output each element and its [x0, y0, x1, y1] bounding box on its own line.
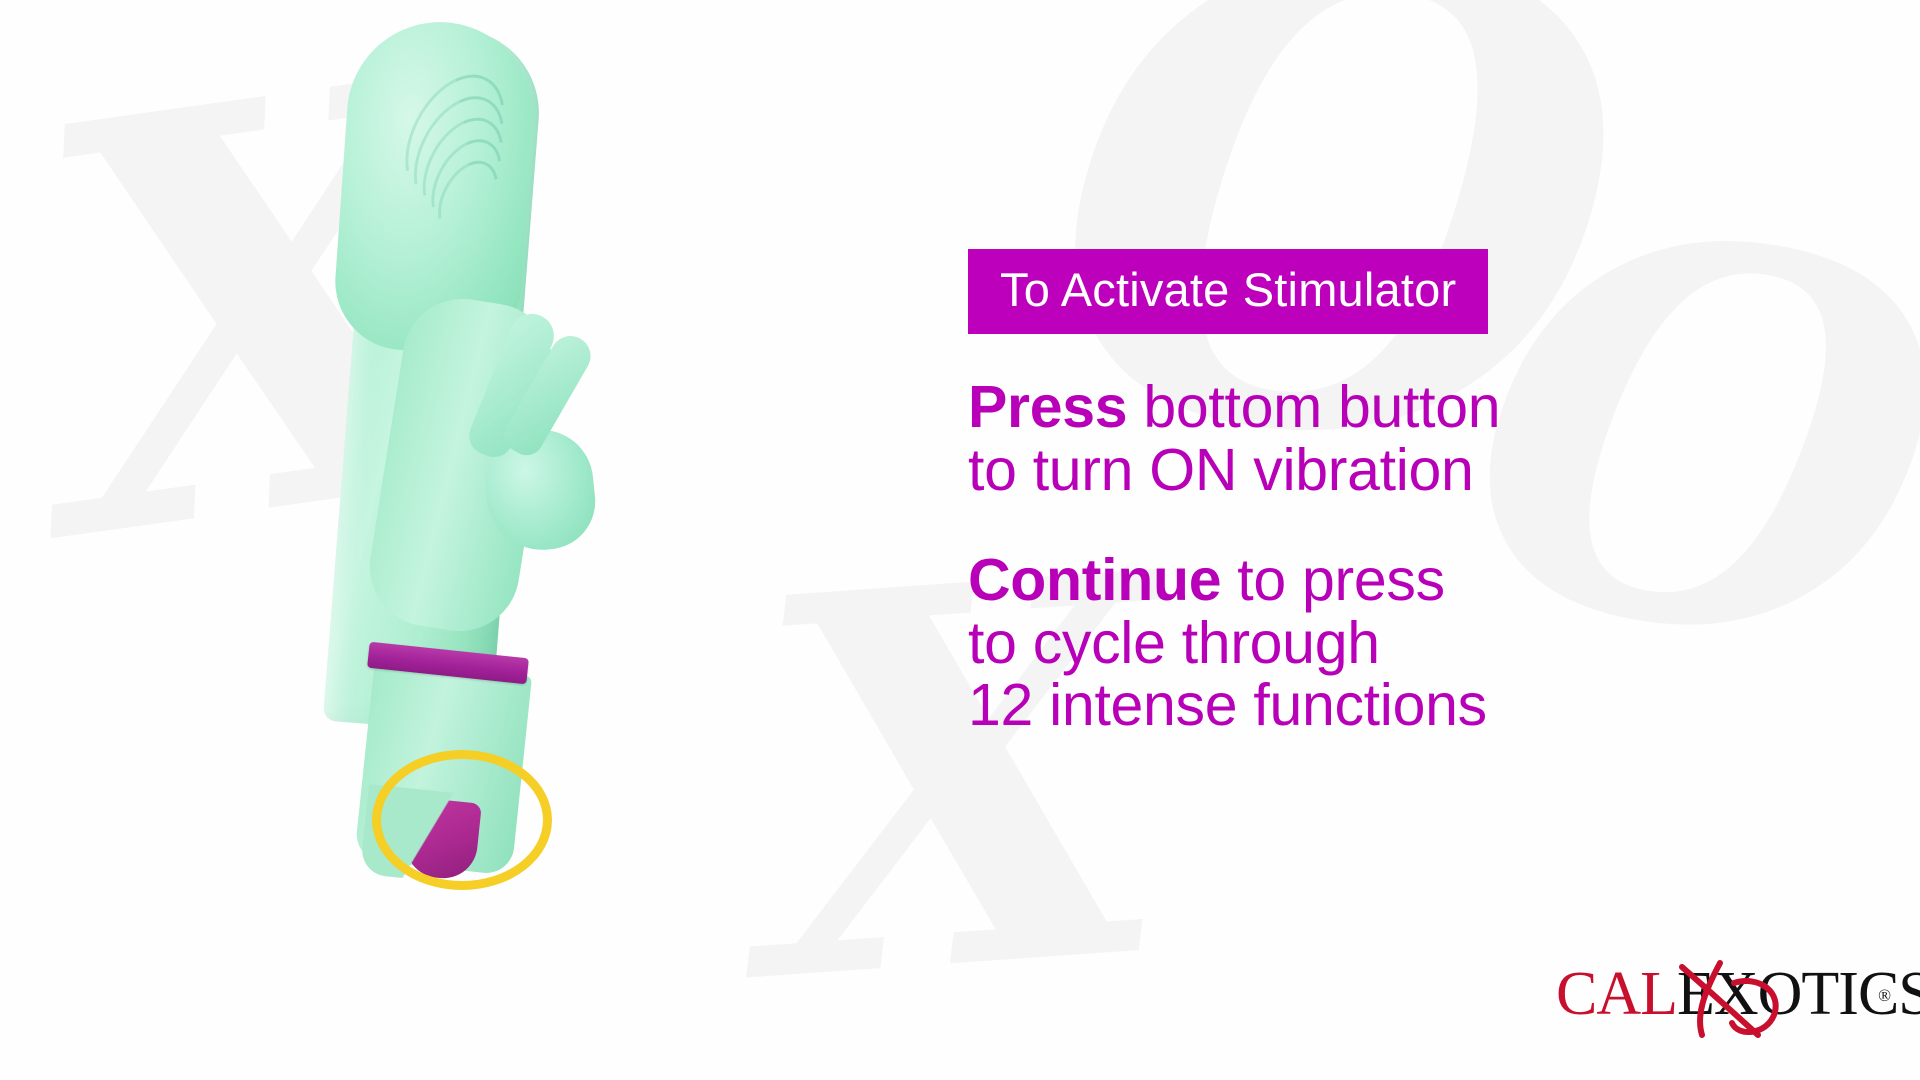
brand-logo-cal: CAL: [1556, 960, 1677, 1028]
instruction-line-1-rest: bottom button: [1127, 374, 1500, 440]
instructions-panel: To Activate Stimulator Press bottom butt…: [968, 249, 1748, 737]
instruction-line-3: 12 intense functions: [968, 674, 1748, 737]
instruction-lead-continue: Continue: [968, 547, 1221, 613]
section-heading-banner: To Activate Stimulator: [968, 249, 1488, 334]
brand-logo-text: CALEXOTICS®: [1556, 963, 1886, 1025]
registered-trademark-icon: ®: [1878, 965, 1890, 1027]
bottom-button-highlight-ring-icon: [372, 750, 552, 890]
instruction-line-2: to cycle through: [968, 612, 1748, 675]
brand-logo: CALEXOTICS®: [1556, 963, 1886, 1033]
product-image: [290, 0, 710, 900]
instruction-lead-press: Press: [968, 374, 1127, 440]
instruction-line: Continue to press: [968, 549, 1748, 612]
instruction-block-1: Press bottom button to turn ON vibration: [968, 376, 1748, 501]
instruction-line-2: to turn ON vibration: [968, 439, 1748, 502]
instruction-line-1-rest: to press: [1221, 547, 1445, 613]
slide-canvas: X O X O To Activate Stimulator Press bot…: [0, 0, 1920, 1080]
instruction-line: Press bottom button: [968, 376, 1748, 439]
instruction-block-2: Continue to press to cycle through 12 in…: [968, 549, 1748, 737]
